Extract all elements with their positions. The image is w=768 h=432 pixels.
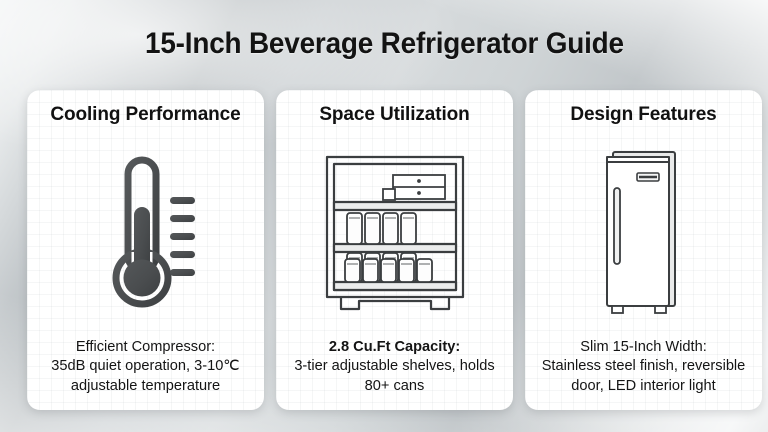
card-cooling-performance[interactable]: Cooling Performance	[27, 90, 264, 410]
shelving-cans-icon	[315, 149, 475, 315]
card-lead: Slim 15-Inch Width:	[580, 339, 707, 355]
card-space-utilization[interactable]: Space Utilization	[276, 90, 513, 410]
page-title: 15-Inch Beverage Refrigerator Guide	[145, 27, 624, 61]
card-description: Slim 15-Inch Width: Stainless steel fini…	[525, 338, 762, 410]
feature-cards-row: Cooling Performance	[27, 90, 762, 410]
shelving-cans-icon-wrap	[276, 126, 513, 338]
card-lead: Efficient Compressor:	[76, 339, 215, 355]
refrigerator-icon	[589, 146, 699, 318]
card-rest: 3-tier adjustable shelves, holds 80+ can…	[294, 358, 494, 393]
refrigerator-icon-wrap	[525, 126, 762, 338]
page-title-bar: 15-Inch Beverage Refrigerator Guide	[0, 0, 768, 88]
card-description: Efficient Compressor: 35dB quiet operati…	[27, 338, 264, 410]
card-rest: Stainless steel finish, reversible door,…	[542, 358, 746, 393]
card-description: 2.8 Cu.Ft Capacity: 3-tier adjustable sh…	[276, 338, 513, 410]
card-lead: 2.8 Cu.Ft Capacity:	[329, 339, 460, 355]
card-heading: Design Features	[570, 104, 716, 126]
thermometer-icon	[84, 152, 208, 312]
thermometer-icon-wrap	[27, 126, 264, 338]
card-design-features[interactable]: Design Features	[525, 90, 762, 410]
card-rest: 35dB quiet operation, 3-10℃ adjustable t…	[51, 358, 239, 393]
card-heading: Cooling Performance	[50, 104, 240, 126]
card-heading: Space Utilization	[319, 104, 469, 126]
